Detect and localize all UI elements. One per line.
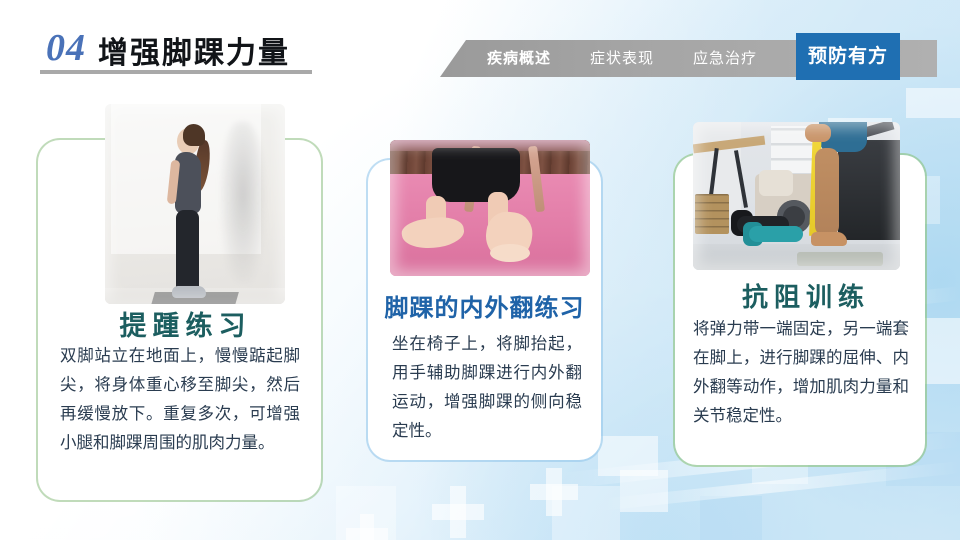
medical-cross-icon — [432, 486, 484, 538]
card-body: 坐在椅子上，将脚抬起，用手辅助脚踝进行内外翻运动，增强脚踝的侧向稳定性。 — [392, 330, 582, 446]
card-title: 抗阻训练 — [675, 277, 931, 314]
medical-cross-icon — [530, 468, 578, 516]
photo-soft-edge — [105, 104, 285, 304]
nav-item-list: 疾病概述 症状表现 应急治疗 预防有方 — [440, 40, 937, 77]
card-title: 提踵练习 — [38, 304, 327, 343]
card-body: 双脚站立在地面上，慢慢踮起脚尖，将身体重心移至脚尖，然后再缓慢放下。重复多次，可… — [60, 342, 300, 458]
medical-cross-icon — [346, 514, 388, 540]
deco-square — [336, 486, 396, 540]
section-nav: 疾病概述 症状表现 应急治疗 预防有方 — [440, 40, 937, 77]
tab-prevention[interactable]: 预防有方 — [796, 33, 900, 80]
deco-streak — [600, 461, 959, 511]
tab-disease-overview[interactable]: 疾病概述 — [487, 40, 551, 77]
tab-emergency-treatment[interactable]: 应急治疗 — [693, 40, 757, 77]
tab-symptoms[interactable]: 症状表现 — [590, 40, 654, 77]
title-underline — [40, 70, 312, 74]
card-title: 脚踝的内外翻练习 — [368, 288, 601, 323]
deco-square — [598, 436, 658, 476]
deco-square — [620, 470, 668, 512]
card-image-ankle-inversion — [390, 140, 590, 276]
card-image-resistance-training — [693, 122, 900, 270]
card-body: 将弹力带一端固定，另一端套在脚上，进行脚踝的屈伸、内外翻等动作，增加肌肉力量和关… — [693, 315, 909, 431]
deco-square — [700, 496, 762, 540]
slide-root: 04 增强脚踝力量 疾病概述 症状表现 应急治疗 预防有方 提踵练习 双脚站立在… — [0, 0, 960, 540]
page-title: 增强脚踝力量 — [98, 28, 290, 72]
card-image-calf-raise — [105, 104, 285, 304]
slide-header: 04 增强脚踝力量 疾病概述 症状表现 应急治疗 预防有方 — [0, 0, 960, 96]
deco-square — [552, 486, 620, 540]
photo-soft-edge — [390, 140, 590, 276]
photo-soft-edge — [693, 122, 900, 270]
section-number: 04 — [46, 26, 86, 70]
